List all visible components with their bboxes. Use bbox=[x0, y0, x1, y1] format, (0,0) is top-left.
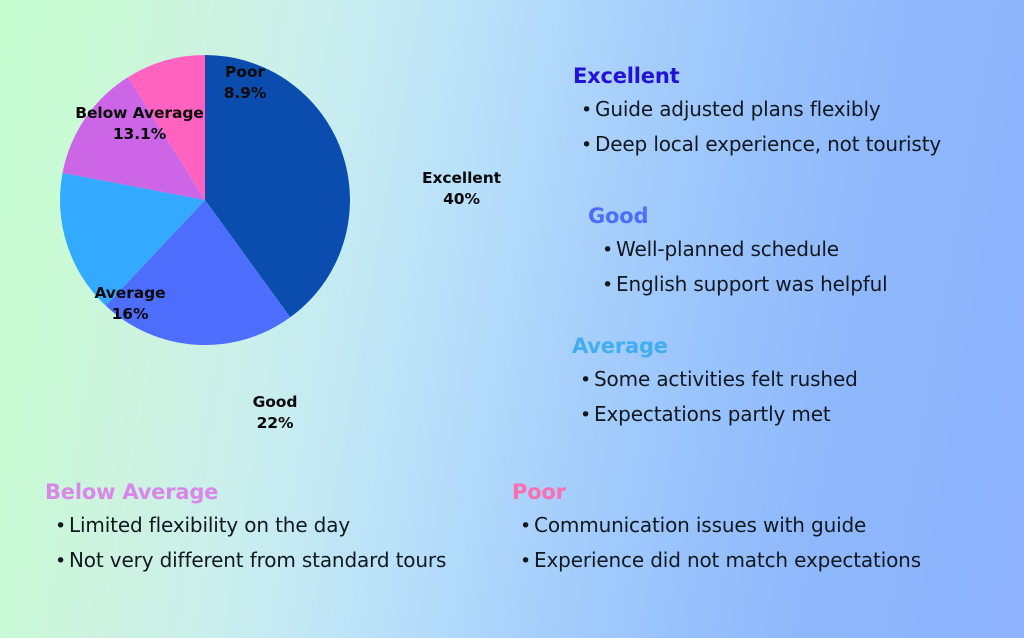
comment-text: English support was helpful bbox=[616, 272, 888, 296]
comment-list-average: •Some activities felt rushed •Expectatio… bbox=[572, 362, 858, 431]
pie-label-below-average: Below Average 13.1% bbox=[52, 103, 227, 145]
comment-block-excellent: Excellent •Guide adjusted plans flexibly… bbox=[573, 64, 941, 162]
comment-title-excellent: Excellent bbox=[573, 64, 941, 89]
comment-list-excellent: •Guide adjusted plans flexibly •Deep loc… bbox=[573, 92, 941, 161]
list-item: •English support was helpful bbox=[602, 267, 888, 302]
comment-text: Well-planned schedule bbox=[616, 237, 839, 261]
pie-label-poor-name: Poor bbox=[225, 63, 265, 81]
bullet-icon: • bbox=[55, 510, 69, 543]
pie-label-good-name: Good bbox=[253, 393, 298, 411]
comment-text: Deep local experience, not touristy bbox=[595, 132, 941, 156]
list-item: •Well-planned schedule bbox=[602, 232, 888, 267]
comment-title-poor: Poor bbox=[512, 480, 921, 505]
comment-block-below-average: Below Average •Limited flexibility on th… bbox=[45, 480, 446, 578]
list-item: •Not very different from standard tours bbox=[55, 543, 446, 578]
comment-list-poor: •Communication issues with guide •Experi… bbox=[512, 508, 921, 577]
bullet-icon: • bbox=[520, 510, 534, 543]
list-item: •Expectations partly met bbox=[580, 397, 858, 432]
comment-block-average: Average •Some activities felt rushed •Ex… bbox=[572, 334, 858, 432]
infographic-canvas: Excellent 40% Good 22% Average 16% Below… bbox=[0, 0, 1024, 638]
pie-label-good-percent: 22% bbox=[210, 413, 340, 434]
comment-list-good: •Well-planned schedule •English support … bbox=[588, 232, 888, 301]
pie-label-good: Good 22% bbox=[210, 392, 340, 434]
bullet-icon: • bbox=[520, 545, 534, 578]
pie-chart: Excellent 40% Good 22% Average 16% Below… bbox=[60, 55, 530, 455]
list-item: •Some activities felt rushed bbox=[580, 362, 858, 397]
pie-label-excellent: Excellent 40% bbox=[422, 168, 501, 210]
list-item: •Guide adjusted plans flexibly bbox=[581, 92, 941, 127]
comment-title-below-average: Below Average bbox=[45, 480, 446, 505]
comment-text: Not very different from standard tours bbox=[69, 548, 446, 572]
pie-label-poor: Poor 8.9% bbox=[180, 62, 310, 104]
pie-label-poor-percent: 8.9% bbox=[180, 83, 310, 104]
bullet-icon: • bbox=[580, 399, 594, 432]
list-item: •Limited flexibility on the day bbox=[55, 508, 446, 543]
comment-text: Some activities felt rushed bbox=[594, 367, 858, 391]
comment-text: Communication issues with guide bbox=[534, 513, 866, 537]
bullet-icon: • bbox=[581, 129, 595, 162]
pie-label-average-name: Average bbox=[94, 284, 165, 302]
pie-label-average: Average 16% bbox=[65, 283, 195, 325]
pie-label-excellent-percent: 40% bbox=[422, 189, 501, 210]
comment-text: Limited flexibility on the day bbox=[69, 513, 350, 537]
comment-block-poor: Poor •Communication issues with guide •E… bbox=[512, 480, 921, 578]
list-item: •Deep local experience, not touristy bbox=[581, 127, 941, 162]
list-item: •Communication issues with guide bbox=[520, 508, 921, 543]
comment-list-below-average: •Limited flexibility on the day •Not ver… bbox=[45, 508, 446, 577]
pie-label-below-average-name: Below Average bbox=[75, 104, 203, 122]
bullet-icon: • bbox=[55, 545, 69, 578]
comment-title-good: Good bbox=[588, 204, 888, 229]
bullet-icon: • bbox=[580, 364, 594, 397]
comment-block-good: Good •Well-planned schedule •English sup… bbox=[588, 204, 888, 302]
bullet-icon: • bbox=[602, 269, 616, 302]
bullet-icon: • bbox=[581, 94, 595, 127]
comment-title-average: Average bbox=[572, 334, 858, 359]
pie-label-average-percent: 16% bbox=[65, 304, 195, 325]
list-item: •Experience did not match expectations bbox=[520, 543, 921, 578]
comment-text: Experience did not match expectations bbox=[534, 548, 921, 572]
comment-text: Guide adjusted plans flexibly bbox=[595, 97, 881, 121]
comment-text: Expectations partly met bbox=[594, 402, 831, 426]
pie-label-below-average-percent: 13.1% bbox=[52, 124, 227, 145]
pie-label-excellent-name: Excellent bbox=[422, 169, 501, 187]
bullet-icon: • bbox=[602, 234, 616, 267]
